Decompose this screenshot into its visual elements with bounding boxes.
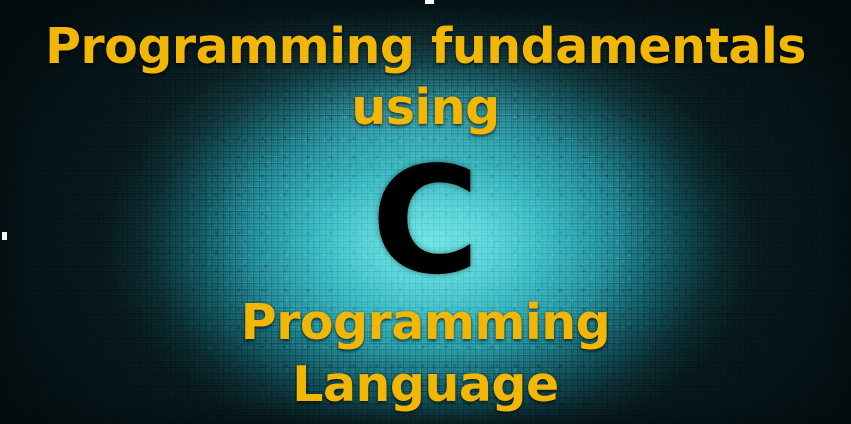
title-line-language: Language bbox=[0, 360, 851, 409]
title-line-primary: Programming fundamentals bbox=[0, 22, 851, 71]
title-line-programming: Programming bbox=[0, 298, 851, 347]
title-slide: Programming fundamentals using C Program… bbox=[0, 0, 851, 424]
compression-artifact-top-edge bbox=[425, 0, 434, 4]
c-language-letter: C bbox=[0, 147, 851, 295]
title-line-using: using bbox=[0, 83, 851, 132]
